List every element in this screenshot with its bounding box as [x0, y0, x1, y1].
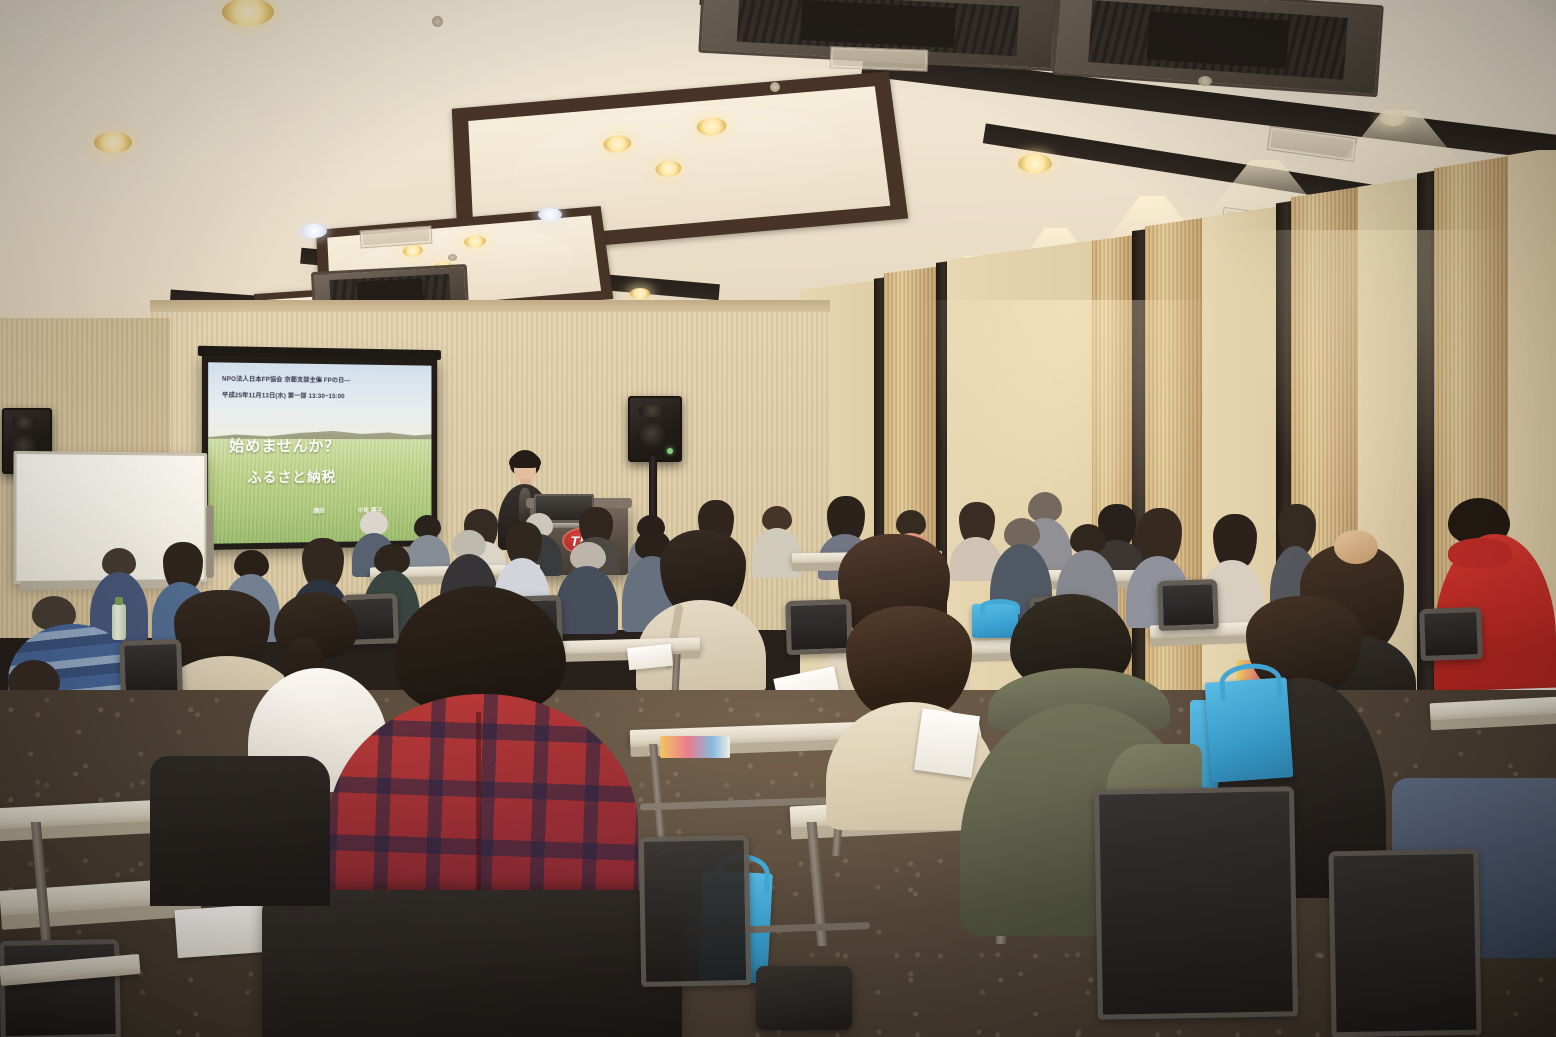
coat-on-chair-left	[150, 756, 330, 906]
coat-on-chair-front	[262, 890, 682, 1037]
slide-title-line1: 始めませんか？	[229, 435, 340, 456]
chair-mid-7	[119, 639, 183, 697]
handbag-floor	[756, 966, 852, 1030]
slide-credit-label: 講師	[313, 506, 325, 515]
slide-title-line2: ふるさと納税	[247, 467, 336, 488]
chair-front-center	[639, 835, 752, 987]
ceiling-vent-panel-3	[830, 46, 929, 71]
hair-scrunchie	[1334, 530, 1378, 564]
downlight-4	[538, 208, 562, 221]
sprinkler-head-1	[432, 16, 443, 27]
seminar-room-photo: NPO法人日本FP協会 京都支部主催 FPの日— 平成25年11月13日(水) …	[0, 0, 1556, 1037]
downlight-5	[630, 288, 650, 299]
water-bottle	[112, 604, 126, 640]
smoke-detector	[770, 82, 780, 92]
chair-front-right	[1094, 786, 1298, 1019]
downlight-2	[94, 132, 132, 153]
downlight-12	[1380, 112, 1406, 126]
colour-brochure	[660, 736, 730, 758]
chair-front-left	[0, 939, 121, 1037]
sprinkler-head-2	[1198, 76, 1212, 86]
attendee-plaid-shirt	[328, 586, 638, 906]
downlight-1	[222, 0, 274, 26]
chair-front-right-2	[1328, 849, 1481, 1037]
downlight-3	[301, 224, 327, 238]
blue-tote-bag-3	[1205, 677, 1294, 782]
attendee-red-hoodie	[1434, 498, 1556, 698]
chair-mid-5	[1419, 607, 1483, 661]
slide-header-line2: 平成25年11月13日(水) 第一部 13:30~15:00	[222, 390, 423, 401]
sprinkler-head-3	[448, 254, 457, 261]
